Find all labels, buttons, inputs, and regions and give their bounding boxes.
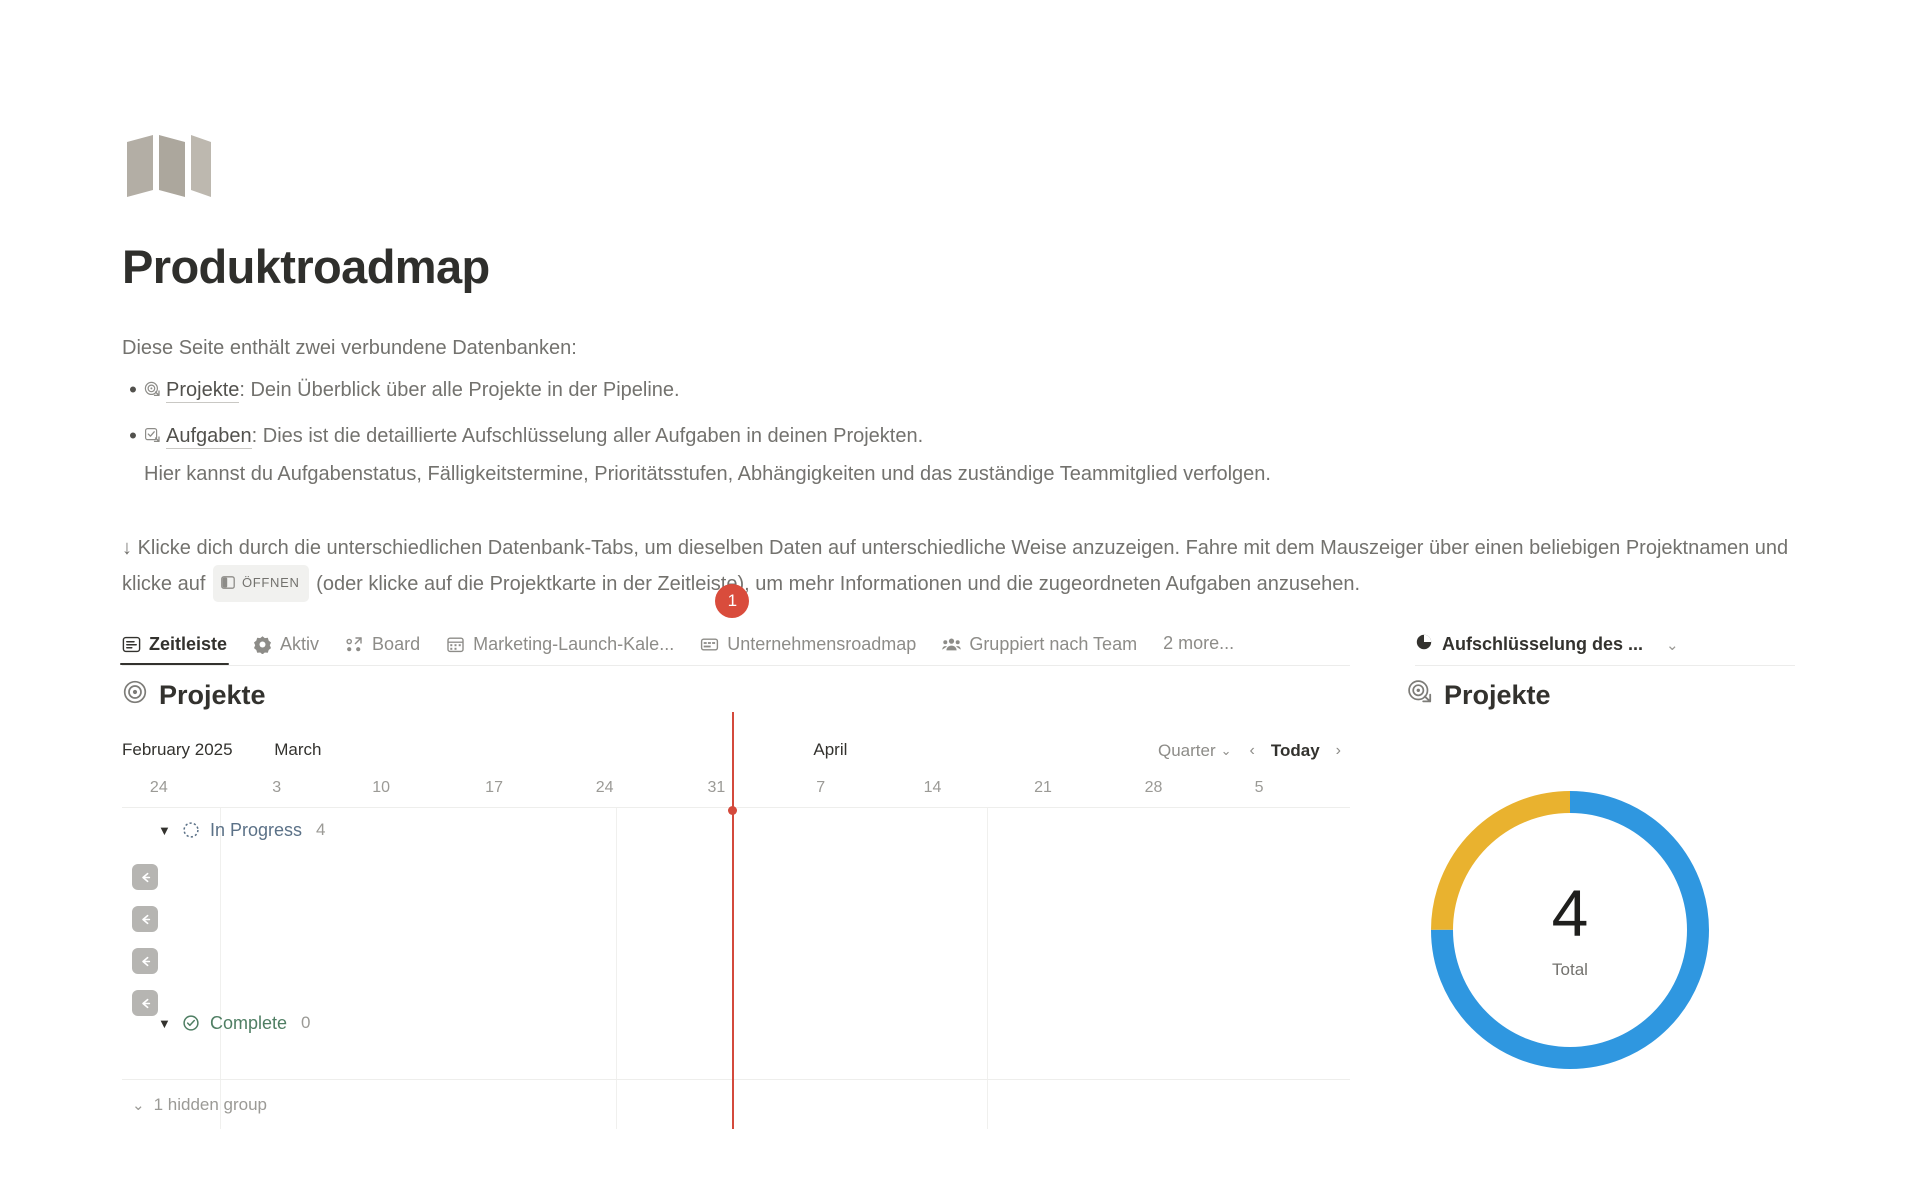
date-tick: 21 (1034, 779, 1052, 797)
tab-gruppiert-nach-team[interactable]: Gruppiert nach Team (942, 624, 1150, 665)
panel-header-label: Aufschlüsselung des ... (1442, 634, 1643, 655)
list-item: • Aufgaben: Dies ist die detaillierte Au… (122, 421, 1542, 489)
date-tick: 10 (372, 779, 390, 797)
panel-header: Aufschlüsselung des ... ⌄ (1415, 624, 1795, 666)
arrow-left-icon[interactable] (132, 906, 158, 932)
database-list: • Projekte: Dein Überblick über alle Pro… (122, 375, 1542, 505)
chevron-down-icon: ⌄ (1221, 743, 1232, 759)
date-tick: 24 (150, 779, 168, 797)
timeline-date-ruler: 24 3 10 17 24 31 7 14 21 28 5 (122, 775, 1350, 807)
bullet-marker: • (122, 421, 144, 451)
page-title: Produktroadmap (122, 243, 490, 290)
roadmap-page: Produktroadmap Diese Seite enthält zwei … (0, 0, 1920, 1199)
list-item-text: : Dein Überblick über alle Projekte in d… (239, 379, 679, 401)
chevron-down-icon[interactable]: ⌄ (132, 1096, 145, 1114)
section-heading-projekte-left: Projekte (122, 679, 266, 712)
section-heading-label: Projekte (159, 680, 266, 711)
chevron-down-icon[interactable]: ⌄ (1666, 636, 1679, 654)
tab-label: Gruppiert nach Team (969, 634, 1137, 655)
people-icon (942, 635, 961, 654)
date-tick: 31 (707, 779, 725, 797)
date-tick: 17 (485, 779, 503, 797)
section-heading-projekte-right: Projekte (1407, 679, 1551, 712)
list-item-text: : Dies ist die detaillierte Aufschlüssel… (252, 425, 924, 447)
timeline-grid: 1 ▼ In Progress 4 (122, 807, 1350, 1129)
timeline-month: March (274, 740, 321, 760)
folded-map-icon (123, 132, 215, 200)
hidden-group-row[interactable]: ⌄ 1 hidden group (122, 1079, 1350, 1129)
date-tick: 24 (596, 779, 614, 797)
arrow-left-icon[interactable] (132, 948, 158, 974)
timeline-view: February 2025 March April Quarter ⌄ ‹ To… (122, 735, 1350, 1129)
chevron-down-icon[interactable]: ▼ (158, 1016, 172, 1031)
timeline-month: February 2025 (122, 740, 233, 760)
roadmap-icon (700, 635, 719, 654)
timeline-topbar: February 2025 March April Quarter ⌄ ‹ To… (122, 735, 1350, 775)
arrow-left-icon[interactable] (132, 864, 158, 890)
projects-donut-chart: 4 Total (1425, 785, 1715, 1075)
date-tick: 28 (1145, 779, 1163, 797)
date-tick: 5 (1255, 779, 1264, 797)
bullseye-icon (122, 679, 148, 712)
tab-zeitleiste[interactable]: Zeitleiste (122, 624, 240, 665)
prev-period-button[interactable]: ‹ (1241, 740, 1264, 762)
group-count: 4 (316, 820, 325, 840)
check-circle-icon (182, 1014, 200, 1032)
calendar-icon (446, 635, 465, 654)
chevron-down-icon[interactable]: ▼ (158, 823, 172, 838)
target-link-icon (144, 377, 161, 394)
tab-aktiv[interactable]: Aktiv (253, 624, 332, 665)
today-marker-line: 1 (732, 712, 734, 1129)
instructions-paragraph: ↓ Klicke dich durch die unterschiedliche… (122, 533, 1802, 602)
date-tick: 7 (816, 779, 825, 797)
timeline-group-complete[interactable]: ▼ Complete 0 (122, 1001, 1350, 1045)
link-aufgaben[interactable]: Aufgaben (166, 425, 252, 449)
panel-icon (221, 568, 235, 600)
tab-label: Marketing-Launch-Kale... (473, 634, 674, 655)
today-button[interactable]: Today (1267, 739, 1324, 763)
page-intro: Diese Seite enthält zwei verbundene Date… (122, 333, 577, 363)
target-link-icon (1407, 679, 1433, 712)
timeline-icon (122, 635, 141, 654)
task-link-icon (144, 423, 161, 440)
bullet-marker: • (122, 375, 144, 405)
group-label: In Progress (210, 820, 302, 841)
open-chip-label: ÖFFNEN (242, 573, 300, 594)
arrow-down-icon: ↓ (122, 537, 132, 559)
tab-more-button[interactable]: 2 more... (1163, 624, 1234, 654)
panel-header-button[interactable]: Aufschlüsselung des ... ⌄ (1415, 624, 1679, 665)
quarter-label: Quarter (1158, 741, 1216, 761)
today-marker-badge[interactable]: 1 (715, 584, 749, 618)
group-label: Complete (210, 1013, 287, 1034)
instructions-part2: (oder klicke auf die Projektkarte in der… (316, 573, 1360, 595)
next-period-button[interactable]: › (1327, 740, 1350, 762)
active-gear-icon (253, 635, 272, 654)
quarter-dropdown[interactable]: Quarter ⌄ (1152, 739, 1238, 763)
timeline-month: April (813, 740, 847, 760)
hidden-group-label: 1 hidden group (154, 1095, 267, 1115)
donut-center: 4 Total (1425, 785, 1715, 1075)
tab-unternehmensroadmap[interactable]: Unternehmensroadmap (700, 624, 929, 665)
board-icon (345, 635, 364, 654)
tab-board[interactable]: Board (345, 624, 433, 665)
pie-chart-icon (1415, 633, 1433, 656)
list-item: • Projekte: Dein Überblick über alle Pro… (122, 375, 1542, 405)
tab-label: Aktiv (280, 634, 319, 655)
date-tick: 14 (924, 779, 942, 797)
date-tick: 3 (272, 779, 281, 797)
tab-label: Unternehmensroadmap (727, 634, 916, 655)
list-item-subtext: Hier kannst du Aufgabenstatus, Fälligkei… (144, 459, 1271, 489)
group-count: 0 (301, 1013, 310, 1033)
tab-marketing-launch-kalender[interactable]: Marketing-Launch-Kale... (446, 624, 687, 665)
section-heading-label: Projekte (1444, 680, 1551, 711)
tab-label: Board (372, 634, 420, 655)
link-projekte[interactable]: Projekte (166, 379, 239, 403)
database-tabbar: Zeitleiste Aktiv Board (122, 624, 1350, 666)
dashed-circle-icon (182, 821, 200, 839)
donut-total-label: Total (1552, 960, 1588, 980)
timeline-group-in-progress[interactable]: ▼ In Progress 4 (122, 808, 1350, 852)
open-chip-button[interactable]: ÖFFNEN (213, 565, 309, 603)
timeline-controls: Quarter ⌄ ‹ Today › (1152, 739, 1350, 763)
tab-label: Zeitleiste (149, 634, 227, 655)
donut-total-value: 4 (1552, 880, 1589, 946)
